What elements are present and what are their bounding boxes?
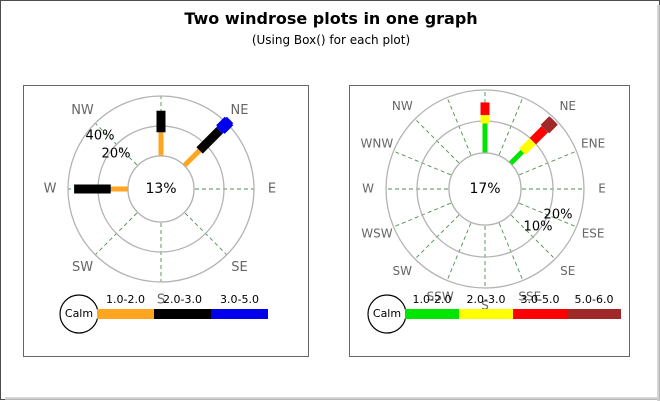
direction-label-NW: NW	[392, 99, 413, 113]
radial-label-2: 40%	[86, 129, 115, 144]
direction-label-NE: NE	[231, 103, 249, 118]
petal-segment-NE-3.0-5.0	[533, 129, 545, 141]
right-windrose-chart: NNNENEENEEESESESSESSSWSWWSWWWNWNWNNW17%1…	[350, 86, 629, 356]
center-percent-label: 13%	[145, 181, 176, 197]
right-plot-box: NNNENEENEEESESESSESSSWSWWSWWWNWNWNNW17%1…	[349, 85, 630, 357]
page-subtitle: (Using Box() for each plot)	[1, 33, 660, 47]
direction-label-SE: SE	[560, 264, 575, 278]
direction-label-NE: NE	[559, 99, 576, 113]
petal-segment-NE-1.0-2.0	[510, 152, 522, 164]
direction-label-WSW: WSW	[361, 226, 392, 240]
petal-NE	[184, 117, 233, 166]
petal-segment-NE-2.0-3.0	[200, 131, 220, 151]
screenshot-canvas: Two windrose plots in one graph (Using B…	[0, 0, 660, 400]
legend-label-1.0-2.0: 1.0-2.0	[413, 293, 452, 306]
legend: Calm1.0-2.02.0-3.03.0-5.05.0-6.0	[368, 293, 621, 333]
direction-label-WNW: WNW	[361, 137, 394, 151]
legend-swatch-1.0-2.0[interactable]	[405, 309, 459, 319]
legend-swatch-3.0-5.0[interactable]	[211, 309, 268, 319]
radial-label-1: 20%	[102, 147, 131, 162]
legend: Calm1.0-2.02.0-3.03.0-5.0	[60, 293, 268, 333]
legend-swatch-1.0-2.0[interactable]	[97, 309, 154, 319]
direction-label-NW: NW	[71, 103, 94, 118]
direction-label-SW: SW	[393, 264, 413, 278]
legend-label-2.0-3.0: 2.0-3.0	[163, 293, 202, 306]
direction-label-SE: SE	[231, 260, 247, 275]
legend-label-3.0-5.0: 3.0-5.0	[521, 293, 560, 306]
legend-swatch-2.0-3.0[interactable]	[154, 309, 211, 319]
legend-swatch-5.0-6.0[interactable]	[567, 309, 621, 319]
center-percent-label: 17%	[469, 181, 500, 197]
direction-label-W: W	[44, 182, 57, 197]
legend-label-2.0-3.0: 2.0-3.0	[467, 293, 506, 306]
legend-label-3.0-5.0: 3.0-5.0	[220, 293, 259, 306]
legend-swatch-3.0-5.0[interactable]	[513, 309, 567, 319]
petal-NE	[510, 116, 557, 163]
direction-label-ESE: ESE	[582, 226, 605, 240]
legend-label-5.0-6.0: 5.0-6.0	[575, 293, 614, 306]
direction-label-E: E	[268, 182, 276, 197]
direction-label-W: W	[362, 182, 374, 196]
calm-label: Calm	[65, 307, 93, 320]
direction-label-NNE: NNE	[517, 86, 543, 87]
direction-label-SW: SW	[72, 260, 93, 275]
left-plot-box: NNEESESSWWNW13%20%40%13%Calm1.0-2.02.0-3…	[23, 85, 309, 357]
left-windrose-chart: NNEESESSWWNW13%20%40%13%Calm1.0-2.02.0-3…	[24, 86, 308, 356]
legend-label-1.0-2.0: 1.0-2.0	[106, 293, 145, 306]
page-title: Two windrose plots in one graph	[1, 9, 660, 28]
direction-label-E: E	[598, 182, 606, 196]
direction-label-NNW: NNW	[425, 86, 455, 87]
petal-segment-NE-1.0-2.0	[184, 150, 199, 165]
legend-swatch-2.0-3.0[interactable]	[459, 309, 513, 319]
radial-label-2: 20%	[544, 208, 573, 223]
petal-segment-NE-2.0-3.0	[522, 141, 532, 151]
direction-label-ENE: ENE	[581, 137, 605, 151]
calm-label: Calm	[373, 307, 401, 320]
